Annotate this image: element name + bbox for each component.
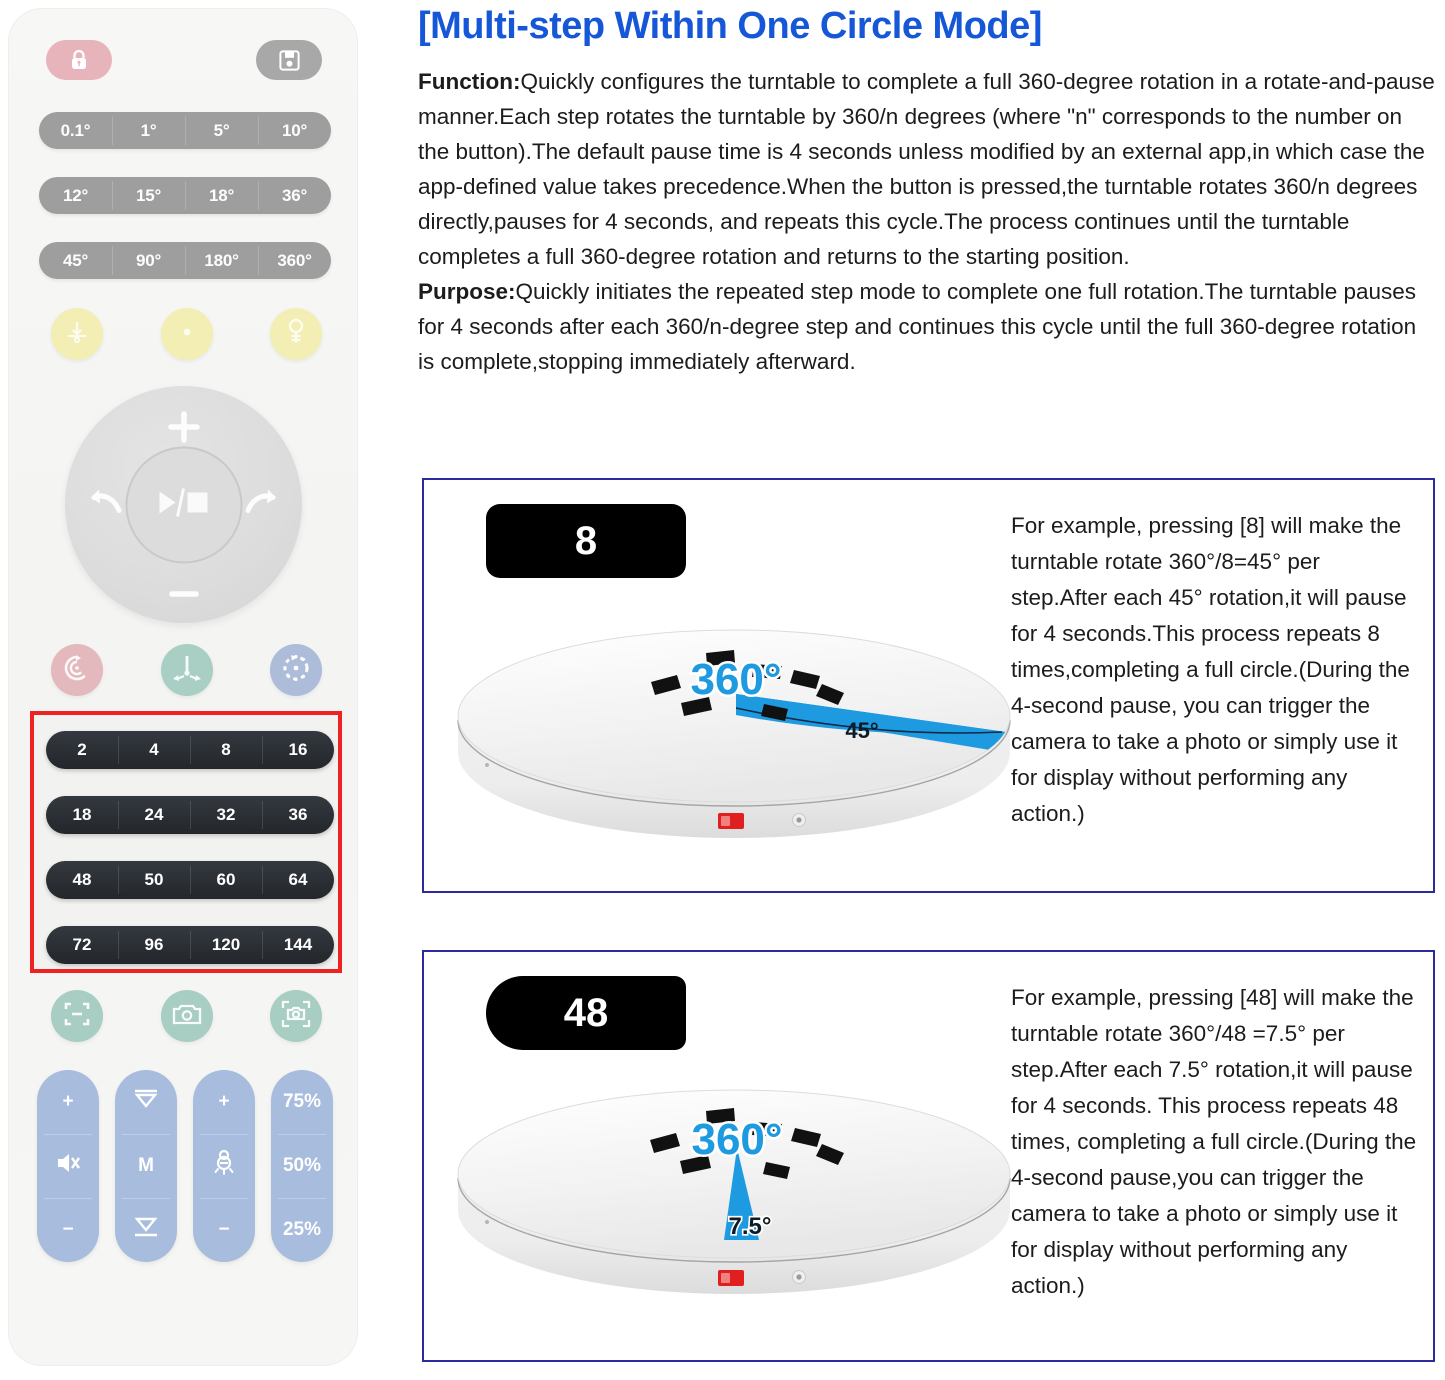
purpose-text: Quickly initiates the repeated step mode…	[418, 279, 1416, 374]
example-description-8: For example, pressing [8] will make the …	[1011, 508, 1419, 832]
limit-column: M	[115, 1070, 177, 1262]
rotate-cw-button[interactable]	[244, 487, 280, 522]
camera-button-row	[8, 990, 358, 1044]
degree-button[interactable]: 0.1°	[39, 112, 112, 149]
number-button[interactable]: 64	[262, 861, 334, 899]
lamp-down-button[interactable]: −	[193, 1198, 255, 1262]
degree-button[interactable]: 1°	[112, 112, 185, 149]
memory-button[interactable]: M	[115, 1134, 177, 1198]
lamp-button[interactable]	[193, 1134, 255, 1198]
degree-button[interactable]: 90°	[112, 242, 185, 279]
number-button[interactable]: 96	[118, 926, 190, 964]
save-button[interactable]	[256, 40, 322, 80]
number-button[interactable]: 36	[262, 796, 334, 834]
yellow-button-row	[8, 308, 358, 362]
percent-75-button[interactable]: 75%	[271, 1070, 333, 1134]
bottom-limit-icon	[133, 1216, 159, 1244]
turntable-360-label-48: 360°	[691, 1115, 782, 1164]
save-icon	[279, 50, 300, 71]
percent-25-button[interactable]: 25%	[271, 1198, 333, 1262]
dpad-up-button[interactable]	[165, 408, 203, 446]
turntable-360-label-8: 360°	[690, 655, 781, 704]
spiral-rotate-icon	[62, 653, 92, 688]
number-button[interactable]: 18	[46, 796, 118, 834]
number-button[interactable]: 4	[118, 731, 190, 769]
number-button[interactable]: 24	[118, 796, 190, 834]
degree-row-2: 12° 15° 18° 36°	[39, 177, 331, 214]
degree-button[interactable]: 18°	[185, 177, 258, 214]
degree-button[interactable]: 360°	[258, 242, 331, 279]
example-badge: 8	[486, 504, 686, 578]
multistep-number-grid-highlight: 2 4 8 16 18 24 32 36 48 50 60 64 72 96 1…	[30, 711, 342, 973]
lamp-up-button[interactable]: +	[193, 1070, 255, 1134]
example-description-48: For example, pressing [48] will make the…	[1011, 980, 1419, 1304]
degree-button[interactable]: 180°	[185, 242, 258, 279]
degree-row-1: 0.1° 1° 5° 10°	[39, 112, 331, 149]
product-instruction-page: 0.1° 1° 5° 10° 12° 15° 18° 36° 45° 90° 1…	[0, 0, 1445, 1380]
example-panel-48: 48	[422, 950, 1435, 1362]
percent-column: 75% 50% 25%	[271, 1070, 333, 1262]
number-button[interactable]: 50	[118, 861, 190, 899]
step-swing-button[interactable]	[161, 644, 213, 696]
number-button[interactable]: 32	[190, 796, 262, 834]
key-icon	[283, 318, 309, 351]
number-button[interactable]: 2	[46, 731, 118, 769]
degree-button[interactable]: 10°	[258, 112, 331, 149]
mute-button[interactable]	[37, 1134, 99, 1198]
percent-50-button[interactable]: 50%	[271, 1134, 333, 1198]
degree-button[interactable]: 15°	[112, 177, 185, 214]
light-down-icon	[64, 319, 90, 350]
number-button[interactable]: 48	[46, 861, 118, 899]
article-content: [Multi-step Within One Circle Mode] Func…	[418, 0, 1435, 379]
camera-focus-icon	[281, 1000, 311, 1033]
dpad-control[interactable]	[65, 386, 302, 623]
number-row-1: 2 4 8 16	[46, 731, 334, 769]
camera-icon	[172, 1002, 202, 1031]
purpose-label: Purpose:	[418, 279, 516, 304]
function-text: Quickly configures the turntable to comp…	[418, 69, 1435, 269]
control-columns: + −	[37, 1070, 333, 1262]
volume-down-button[interactable]: −	[37, 1198, 99, 1262]
number-button[interactable]: 8	[190, 731, 262, 769]
spiral-rotate-button[interactable]	[51, 644, 103, 696]
light-down-button[interactable]	[51, 308, 103, 360]
example-badge: 48	[486, 976, 686, 1050]
example-panel-8: 8	[422, 478, 1435, 893]
circle-steps-button[interactable]	[270, 644, 322, 696]
camera-focus-button[interactable]	[270, 990, 322, 1042]
play-stop-button[interactable]	[125, 446, 242, 563]
rotate-ccw-button[interactable]	[87, 487, 123, 522]
focus-frame-icon	[63, 1000, 91, 1033]
turntable-illustration-8: 360° 45°	[454, 620, 1014, 875]
number-row-2: 18 24 32 36	[46, 796, 334, 834]
number-row-4: 72 96 120 144	[46, 926, 334, 964]
lock-icon	[69, 49, 89, 71]
number-row-3: 48 50 60 64	[46, 861, 334, 899]
play-stop-icon	[154, 487, 214, 522]
degree-button[interactable]: 45°	[39, 242, 112, 279]
remote-control: 0.1° 1° 5° 10° 12° 15° 18° 36° 45° 90° 1…	[8, 8, 358, 1366]
dpad-down-button[interactable]	[165, 587, 203, 601]
step-swing-icon	[171, 653, 203, 688]
volume-column: + −	[37, 1070, 99, 1262]
rotate-ccw-icon	[87, 487, 123, 522]
number-button[interactable]: 16	[262, 731, 334, 769]
turntable-illustration-48: 360° 7.5°	[454, 1082, 1014, 1327]
number-button[interactable]: 60	[190, 861, 262, 899]
number-button[interactable]: 144	[262, 926, 334, 964]
number-button[interactable]: 72	[46, 926, 118, 964]
mute-icon	[55, 1151, 81, 1181]
page-title: [Multi-step Within One Circle Mode]	[418, 4, 1435, 50]
top-limit-button[interactable]	[115, 1070, 177, 1134]
dot-button[interactable]	[161, 308, 213, 360]
top-limit-icon	[133, 1088, 159, 1116]
function-paragraph: Function:Quickly configures the turntabl…	[418, 64, 1435, 274]
lamp-icon	[211, 1149, 237, 1183]
rotate-cw-icon	[244, 487, 280, 522]
lamp-column: + −	[193, 1070, 255, 1262]
turntable-wedge-label-48: 7.5°	[729, 1213, 772, 1240]
degree-button[interactable]: 5°	[185, 112, 258, 149]
purpose-paragraph: Purpose:Quickly initiates the repeated s…	[418, 274, 1435, 379]
number-button[interactable]: 120	[190, 926, 262, 964]
degree-button[interactable]: 36°	[258, 177, 331, 214]
camera-button[interactable]	[161, 990, 213, 1042]
degree-row-3: 45° 90° 180° 360°	[39, 242, 331, 279]
key-button[interactable]	[270, 308, 322, 360]
remote-top-row	[8, 40, 358, 84]
turntable-wedge-label-8: 45°	[845, 718, 878, 743]
circle-steps-icon	[280, 652, 312, 689]
function-label: Function:	[418, 69, 520, 94]
lock-button[interactable]	[46, 40, 112, 80]
degree-button[interactable]: 12°	[39, 177, 112, 214]
dot-icon	[180, 325, 194, 344]
bottom-limit-button[interactable]	[115, 1198, 177, 1262]
mode-button-row	[8, 644, 358, 698]
focus-frame-button[interactable]	[51, 990, 103, 1042]
volume-up-button[interactable]: +	[37, 1070, 99, 1134]
